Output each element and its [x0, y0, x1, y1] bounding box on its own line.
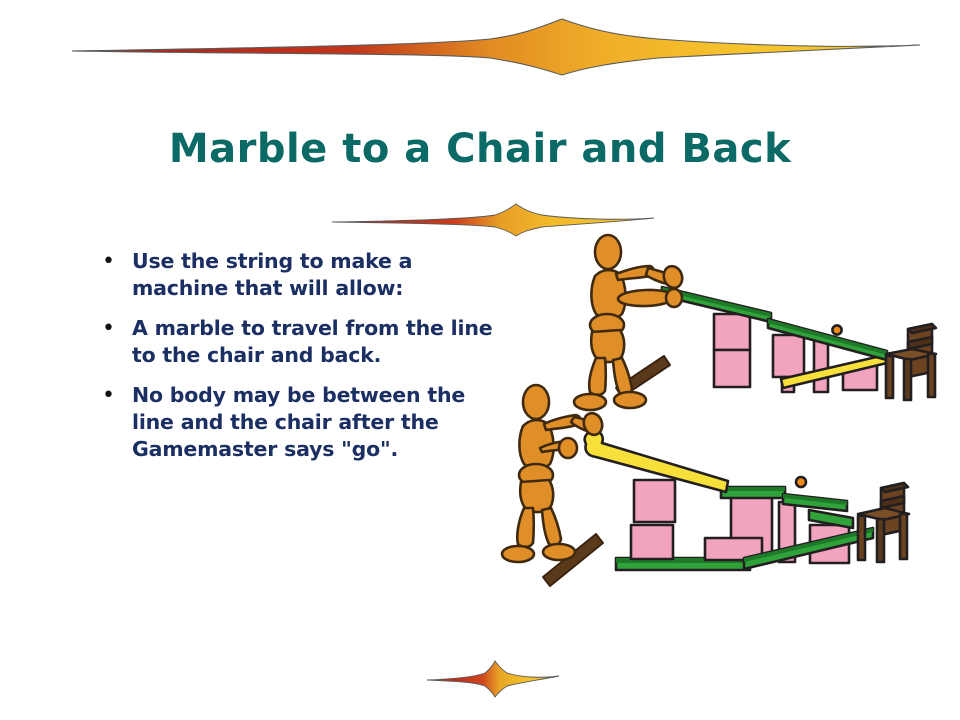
marble-icon: [832, 325, 841, 334]
bottom-ornament: [425, 660, 561, 698]
top-ornament: [70, 18, 922, 76]
bullet-marker: •: [96, 315, 132, 343]
bullet-text: Use the string to make a machine that wi…: [132, 248, 512, 302]
bullet-marker: •: [96, 248, 132, 276]
list-item: • A marble to travel from the line to th…: [96, 315, 512, 369]
bullet-list: • Use the string to make a machine that …: [96, 248, 512, 476]
list-item: • No body may be between the line and th…: [96, 382, 512, 463]
pink-block-stack-left: [714, 314, 750, 387]
bullet-marker: •: [96, 382, 132, 410]
illustration-marble-back: [498, 380, 924, 592]
mannequin-figure-icon: [502, 385, 605, 562]
page-title: Marble to a Chair and Back: [0, 126, 960, 172]
bullet-text: No body may be between the line and the …: [132, 382, 512, 463]
chair-icon: [858, 483, 909, 562]
list-item: • Use the string to make a machine that …: [96, 248, 512, 302]
presentation-slide: Marble to a Chair and Back • Use the str…: [0, 0, 960, 720]
bullet-text: A marble to travel from the line to the …: [132, 315, 512, 369]
marble-icon: [796, 477, 806, 487]
pink-block-stack-left: [631, 480, 675, 559]
